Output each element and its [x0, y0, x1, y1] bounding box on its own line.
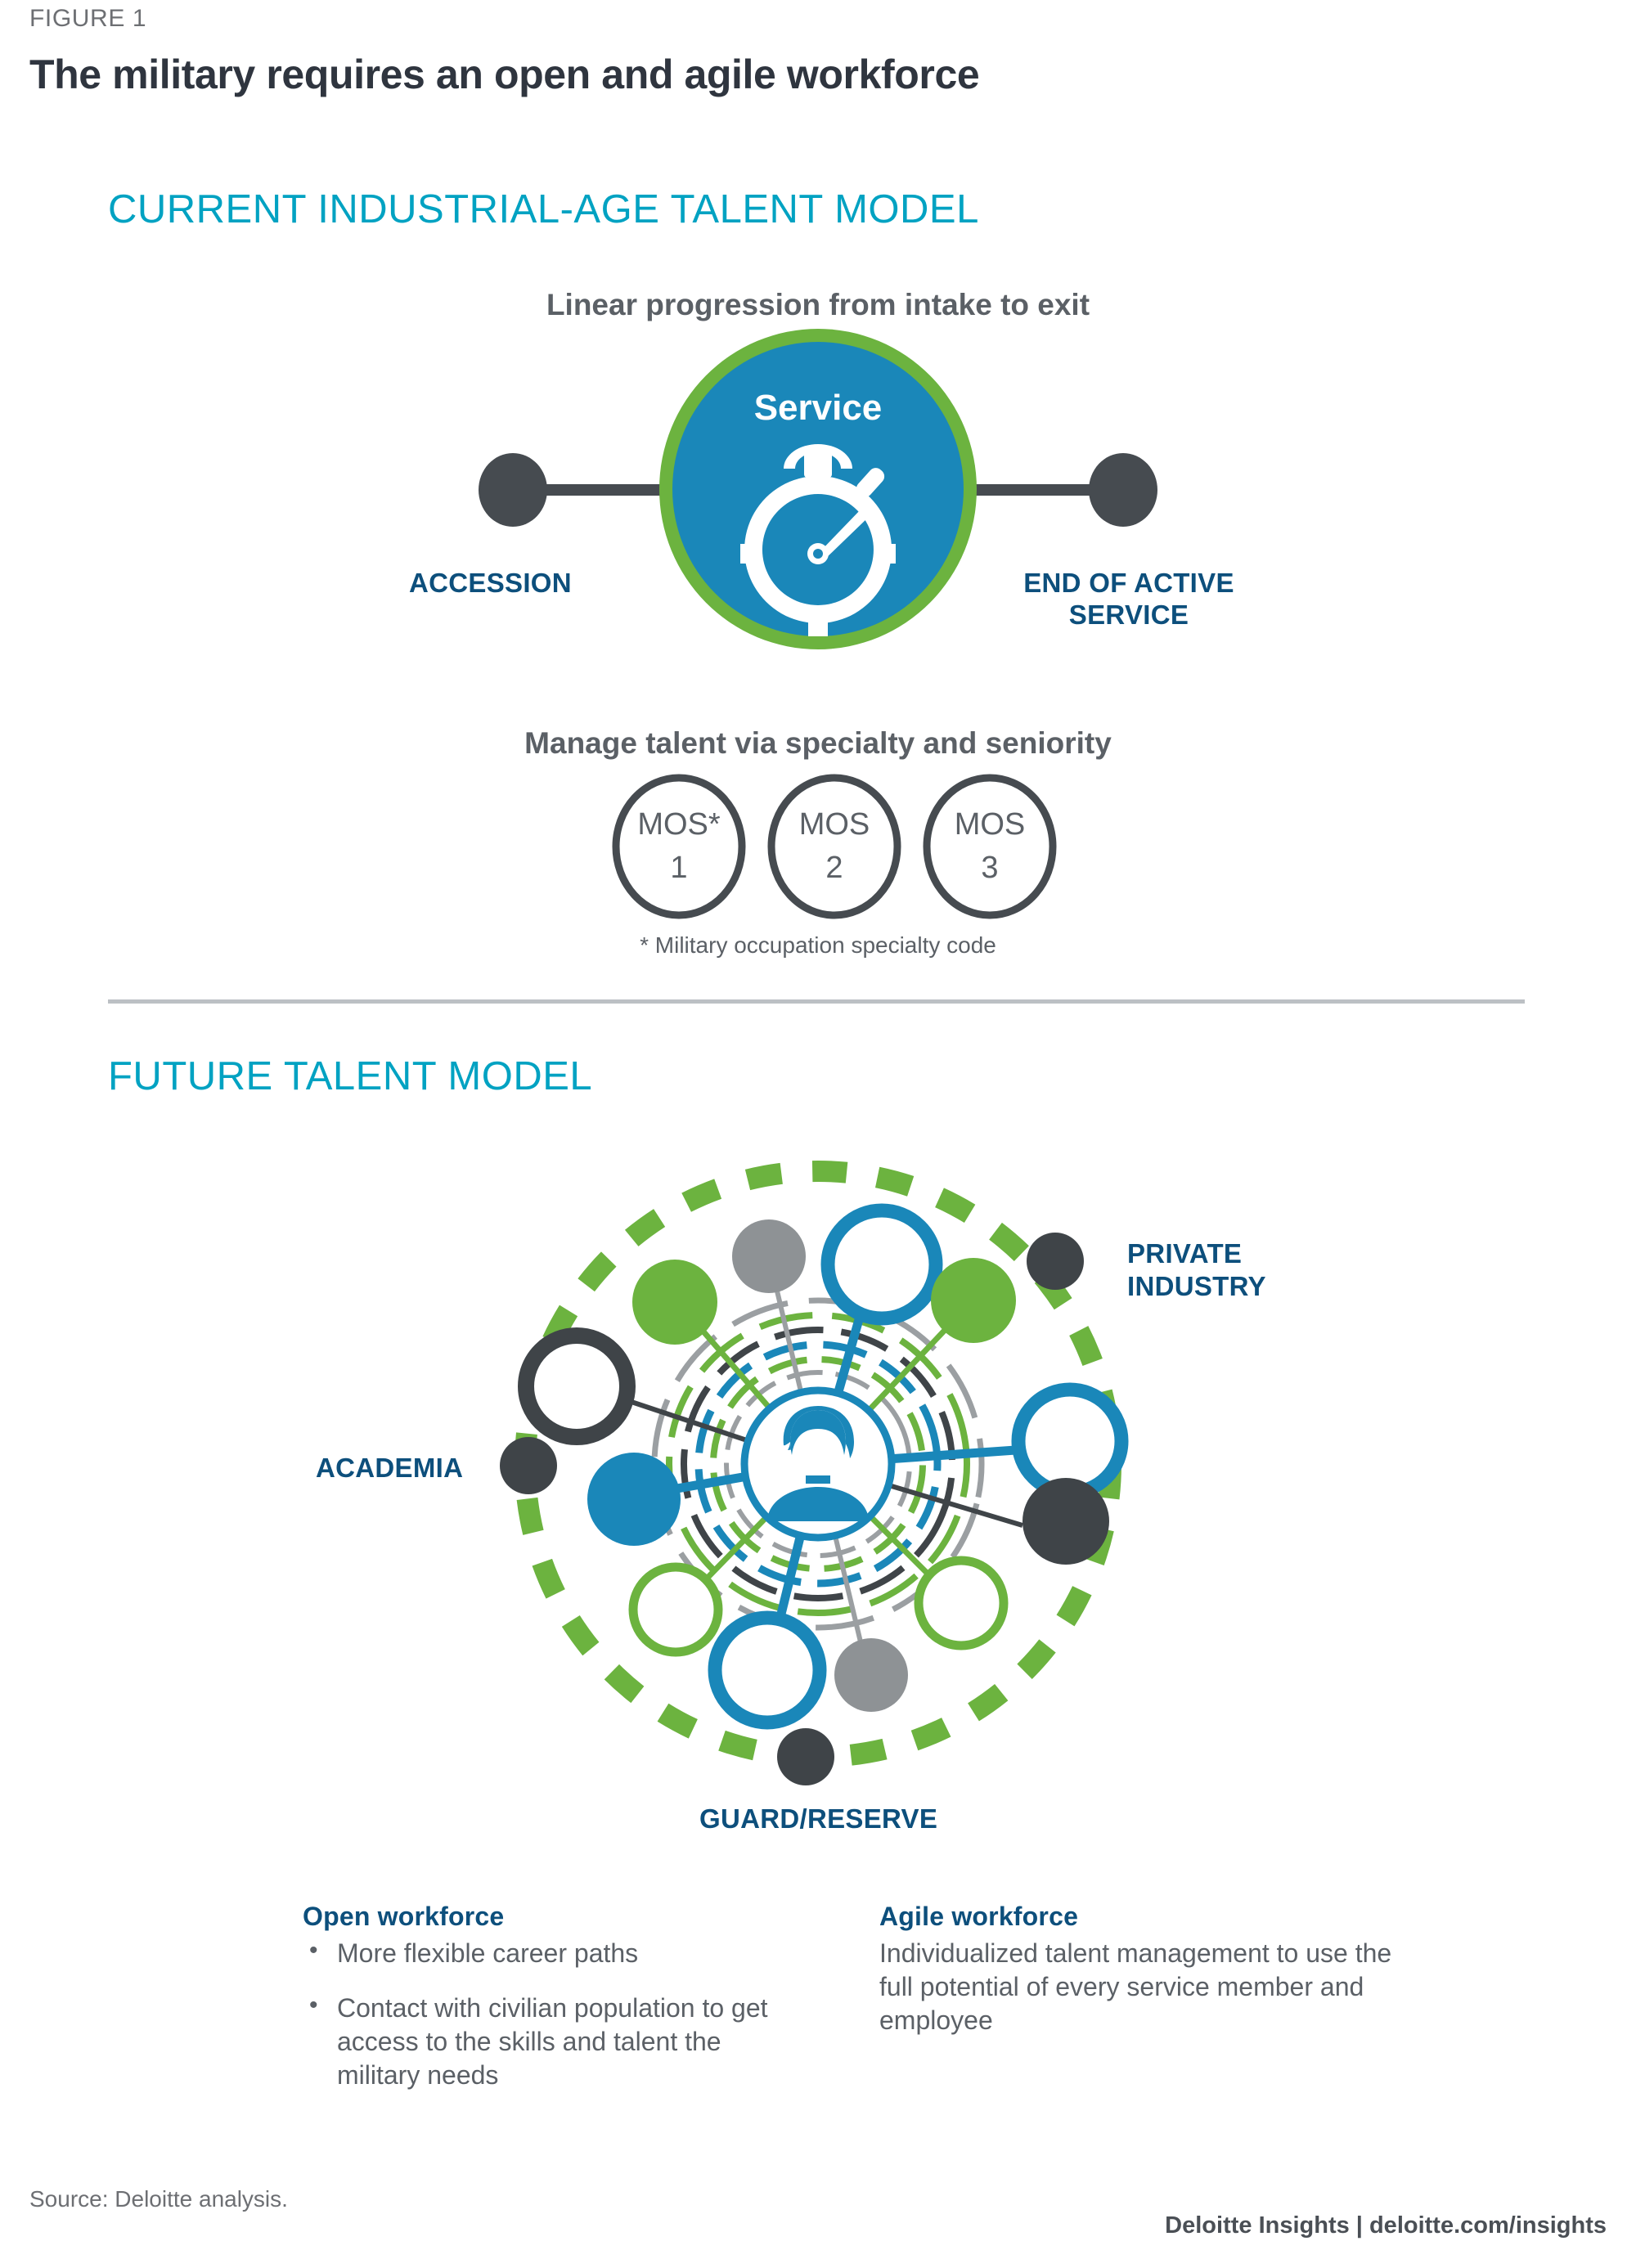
- agile-workforce-title: Agile workforce: [879, 1902, 1403, 1932]
- future-talent-model-diagram: [0, 1121, 1636, 1808]
- node-gray-bottom: [834, 1638, 908, 1712]
- end-of-active-service-node: [1089, 453, 1157, 527]
- list-item: Contact with civilian population to get …: [303, 1992, 810, 2092]
- mos-circle-2-line2: 2: [825, 851, 843, 885]
- mos-circle-1-line2: 1: [670, 851, 687, 885]
- mos-circle-1: MOS* 1: [616, 778, 742, 915]
- node-blue-ring-bottom: [715, 1618, 820, 1722]
- open-workforce-bullets: More flexible career paths Contact with …: [303, 1937, 810, 2092]
- caption-linear-progression: Linear progression from intake to exit: [0, 288, 1636, 322]
- list-item: More flexible career paths: [303, 1937, 810, 1970]
- marker-academia: [500, 1437, 557, 1494]
- accession-label: ACCESSION: [409, 568, 572, 600]
- mos-circle-2-line1: MOS: [799, 807, 870, 842]
- agile-workforce-body: Individualized talent management to use …: [879, 1937, 1403, 2037]
- accession-node: [479, 453, 547, 527]
- marker-guard-reserve: [777, 1728, 834, 1785]
- section-heading-future: FUTURE TALENT MODEL: [108, 1053, 592, 1099]
- section-divider: [108, 999, 1525, 1004]
- source-note: Source: Deloitte analysis.: [29, 2186, 288, 2212]
- node-blue-ring-top: [828, 1210, 936, 1318]
- page-title: The military requires an open and agile …: [29, 51, 979, 98]
- service-label: Service: [754, 388, 883, 428]
- node-blue-ring-right: [1018, 1390, 1121, 1493]
- mos-circle-3-line1: MOS: [955, 807, 1026, 842]
- node-gray-top-left: [732, 1219, 806, 1293]
- mos-circle-2: MOS 2: [771, 778, 897, 915]
- node-green-ring-lower-right: [919, 1561, 1004, 1646]
- mos-circle-3-line2: 3: [981, 851, 998, 885]
- agile-workforce-column: Agile workforce Individualized talent ma…: [879, 1902, 1403, 2037]
- private-industry-line-2: INDUSTRY: [1127, 1270, 1266, 1303]
- section-heading-current: CURRENT INDUSTRIAL-AGE TALENT MODEL: [108, 186, 979, 232]
- node-blue-filled-left: [587, 1453, 681, 1546]
- mos-circle-1-line1: MOS*: [637, 807, 721, 842]
- brand-footer: Deloitte Insights | deloitte.com/insight…: [1165, 2212, 1607, 2239]
- mos-footnote: * Military occupation specialty code: [0, 932, 1636, 959]
- figure-label: FIGURE 1: [29, 5, 146, 33]
- private-industry-label: PRIVATE INDUSTRY: [1127, 1237, 1266, 1302]
- guard-reserve-label: GUARD/RESERVE: [699, 1803, 937, 1835]
- marker-private-industry: [1027, 1233, 1084, 1290]
- end-of-active-service-label: END OF ACTIVE SERVICE: [994, 568, 1264, 631]
- private-industry-line-1: PRIVATE: [1127, 1237, 1266, 1270]
- open-workforce-column: Open workforce More flexible career path…: [303, 1902, 810, 2113]
- node-dark-filled-right: [1022, 1478, 1109, 1565]
- node-green-filled-upper-left: [632, 1260, 717, 1345]
- mos-circle-3: MOS 3: [927, 778, 1053, 915]
- node-dark-ring-left: [526, 1336, 627, 1437]
- open-workforce-title: Open workforce: [303, 1902, 810, 1932]
- figure-page: FIGURE 1 The military requires an open a…: [0, 0, 1636, 2268]
- academia-label: ACADEMIA: [316, 1453, 463, 1484]
- node-green-filled-upper-right: [931, 1258, 1016, 1343]
- caption-manage-talent: Manage talent via specialty and seniorit…: [0, 726, 1636, 761]
- node-green-ring-lower-left: [633, 1567, 718, 1652]
- mos-circles-group: MOS* 1 MOS 2 MOS 3: [0, 769, 1636, 924]
